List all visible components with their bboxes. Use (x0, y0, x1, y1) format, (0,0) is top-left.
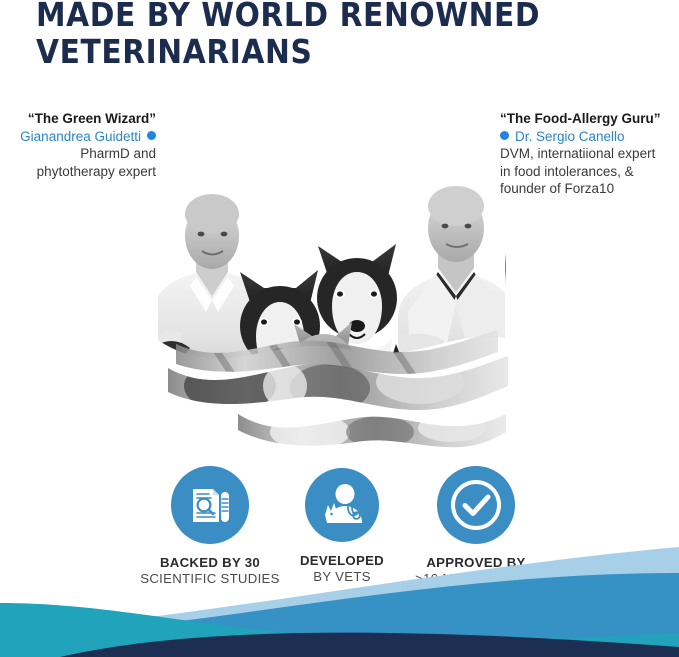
expert-right-name-row: Dr. Sergio Canello (500, 128, 679, 146)
page-title: MADE BY WORLD RENOWNED VETERINARIANS (36, 0, 636, 70)
headline-line-1: MADE BY WORLD RENOWNED (36, 0, 540, 34)
expert-left-name-row: Gianandrea Guidetti (6, 128, 156, 146)
badge-circle (305, 468, 379, 542)
expert-left-desc-line-2: phytotherapy expert (6, 163, 156, 181)
bottom-wave-decoration (0, 547, 679, 657)
expert-left-desc-line-1: PharmD and (6, 145, 156, 163)
photo-strip-3 (230, 410, 520, 452)
badge-circle (171, 466, 249, 544)
expert-left-nickname: “The Green Wizard” (6, 110, 156, 128)
wave-graphic (0, 547, 679, 657)
vets-and-pets-photo (150, 91, 515, 386)
expert-right-name: Dr. Sergio Canello (515, 129, 625, 144)
blue-dot-icon (147, 131, 156, 140)
expert-right-desc-line-1: DVM, internatiional expert (500, 145, 679, 163)
headline-line-2: VETERINARIANS (36, 33, 636, 70)
expert-right-nickname: “The Food-Allergy Guru” (500, 110, 679, 128)
blue-dot-icon (500, 131, 509, 140)
badge-circle (437, 466, 515, 544)
expert-right-desc-line-3: founder of Forza10 (500, 180, 679, 198)
expert-right-caption: “The Food-Allergy Guru” Dr. Sergio Canel… (500, 110, 679, 198)
document-magnifier-testtube-icon (187, 482, 233, 528)
check-circle-icon (448, 477, 504, 533)
vet-with-dog-stethoscope-icon (318, 483, 366, 527)
infographic-page: MADE BY WORLD RENOWNED VETERINARIANS (0, 0, 679, 657)
expert-right-desc-line-2: in food intolerances, & (500, 163, 679, 181)
expert-left-caption: “The Green Wizard” Gianandrea Guidetti P… (6, 110, 156, 180)
expert-left-name: Gianandrea Guidetti (20, 129, 141, 144)
